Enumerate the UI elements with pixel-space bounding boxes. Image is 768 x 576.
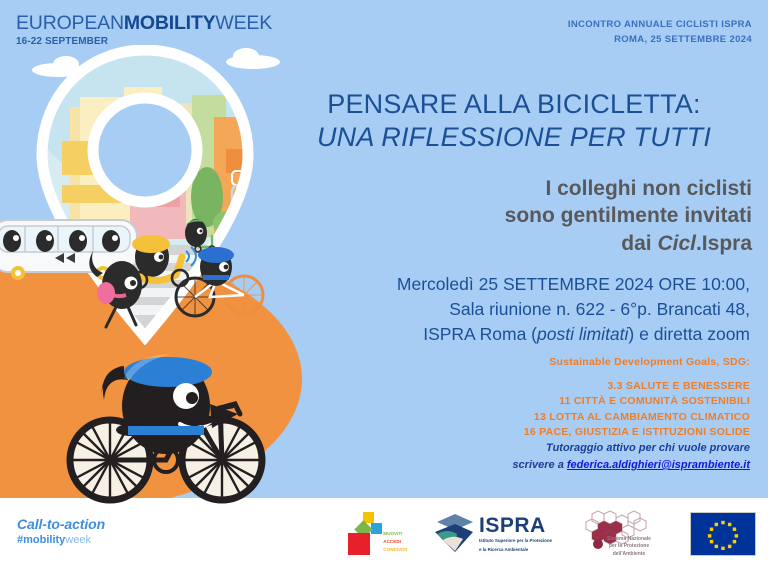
muoviti-word-3: CONDIVIDI — [383, 546, 407, 554]
event-location-pre: ISPRA Roma ( — [423, 324, 537, 344]
cta-hashtag-light: week — [65, 534, 91, 546]
emw-logo-dates: 16-22 SEPTEMBER — [16, 37, 272, 47]
page-title: PENSARE ALLA BICICLETTA: UNA RIFLESSIONE… — [272, 88, 756, 154]
sdg-section: Sustainable Development Goals, SDG: 3.3 … — [390, 356, 750, 440]
event-location-italic: posti limitati — [537, 324, 628, 344]
footer-logo-row: MUOVITI ACCEDI CONDIVIDI ISPRA Istituto … — [348, 508, 756, 560]
emw-word-mobility: MOBILITY — [124, 12, 216, 34]
sdg-goal-item: 13 LOTTA AL CAMBIAMENTO CLIMATICO — [390, 410, 750, 425]
ispra-logo-text: ISPRA Istituto Superiore per la Protezio… — [479, 515, 552, 553]
page-title-line2: UNA RIFLESSIONE PER TUTTI — [272, 121, 756, 154]
poster-canvas: EUROPEANMOBILITYWEEK 16-22 SEPTEMBER INC… — [0, 0, 768, 576]
ispra-logo-title: ISPRA — [479, 515, 552, 536]
eu-flag-mark — [690, 512, 756, 556]
cta-label: Call-to-action — [17, 516, 105, 532]
ispra-logo: ISPRA Istituto Superiore per la Protezio… — [433, 512, 552, 556]
tutoring-note: Tutoraggio attivo per chi vuole provare … — [390, 440, 750, 474]
invitation-text: I colleghi non ciclisti sono gentilmente… — [332, 175, 752, 257]
ispra-logo-mark — [433, 512, 475, 556]
cta-hashtag: #mobilityweek — [17, 534, 105, 546]
european-union-flag — [690, 512, 756, 556]
invitation-line3-post: .Ispra — [696, 232, 752, 255]
cta-hashtag-bold: #mobility — [17, 534, 65, 546]
invitation-line1: I colleghi non ciclisti — [332, 175, 752, 202]
event-location: ISPRA Roma (posti limitati) e diretta zo… — [280, 322, 750, 347]
sdg-goal-item: 3.3 SALUTE E BENESSERE — [390, 379, 750, 394]
invitation-line2: sono gentilmente invitati — [332, 202, 752, 229]
emw-logo-wordmark: EUROPEANMOBILITYWEEK — [16, 14, 272, 34]
emw-word-week: WEEK — [215, 12, 272, 34]
tutoring-line2-pre: scrivere a — [512, 459, 566, 471]
event-room: Sala riunione n. 622 - 6°p. Brancati 48, — [280, 297, 750, 322]
event-location-post: ) e diretta zoom — [628, 324, 750, 344]
sdg-goal-item: 16 PACE, GIUSTIZIA E ISTITUZIONI SOLIDE — [390, 425, 750, 440]
muoviti-word-1: MUOVITI — [383, 530, 407, 538]
call-to-action: Call-to-action #mobilityweek — [17, 516, 105, 546]
event-details: Mercoledì 25 SETTEMBRE 2024 ORE 10:00, S… — [280, 272, 750, 347]
snpa-logo: Sistema Nazionale per la Protezione dell… — [578, 510, 664, 558]
muoviti-word-2: ACCEDI — [383, 538, 407, 546]
meeting-header-line1: INCONTRO ANNUALE CICLISTI ISPRA — [568, 18, 752, 33]
muoviti-logo-mark — [348, 511, 382, 557]
tutoring-line1: Tutoraggio attivo per chi vuole provare — [390, 440, 750, 457]
emw-word-european: EUROPEAN — [16, 12, 124, 34]
ispra-logo-subtitle-line2: e la Ricerca Ambientale — [479, 547, 552, 554]
snpa-logo-line3: dell'Ambiente — [594, 551, 664, 559]
tutoring-line2: scrivere a federica.aldighieri@isprambie… — [390, 457, 750, 474]
muoviti-logo-words: MUOVITI ACCEDI CONDIVIDI — [383, 530, 407, 557]
event-datetime: Mercoledì 25 SETTEMBRE 2024 ORE 10:00, — [280, 272, 750, 297]
snpa-logo-line1: Sistema Nazionale — [594, 536, 664, 544]
contact-email-link[interactable]: federica.aldighieri@isprambiente.it — [567, 459, 750, 471]
ispra-logo-subtitle-line1: Istituto Superiore per la Protezione — [479, 538, 552, 545]
large-cyclist-mascot — [62, 352, 272, 507]
european-mobility-week-logo: EUROPEANMOBILITYWEEK 16-22 SEPTEMBER — [16, 14, 272, 47]
sdg-goal-item: 11 CITTÀ E COMUNITÀ SOSTENIBILI — [390, 394, 750, 409]
meeting-header: INCONTRO ANNUALE CICLISTI ISPRA ROMA, 25… — [568, 18, 752, 47]
muoviti-accedi-condividi-logo: MUOVITI ACCEDI CONDIVIDI — [348, 511, 407, 557]
snpa-logo-line2: per la Protezione — [594, 543, 664, 551]
map-pin-city-illustration — [0, 45, 290, 345]
invitation-line3-pre: dai — [621, 232, 657, 255]
invitation-line3: dai Cicl.Ispra — [332, 230, 752, 257]
snpa-logo-text: Sistema Nazionale per la Protezione dell… — [594, 536, 664, 559]
invitation-line3-italic: Cicl — [657, 232, 696, 255]
sdg-title: Sustainable Development Goals, SDG: — [390, 356, 750, 368]
page-title-line1: PENSARE ALLA BICICLETTA: — [272, 88, 756, 121]
meeting-header-line2: ROMA, 25 SETTEMBRE 2024 — [568, 33, 752, 48]
